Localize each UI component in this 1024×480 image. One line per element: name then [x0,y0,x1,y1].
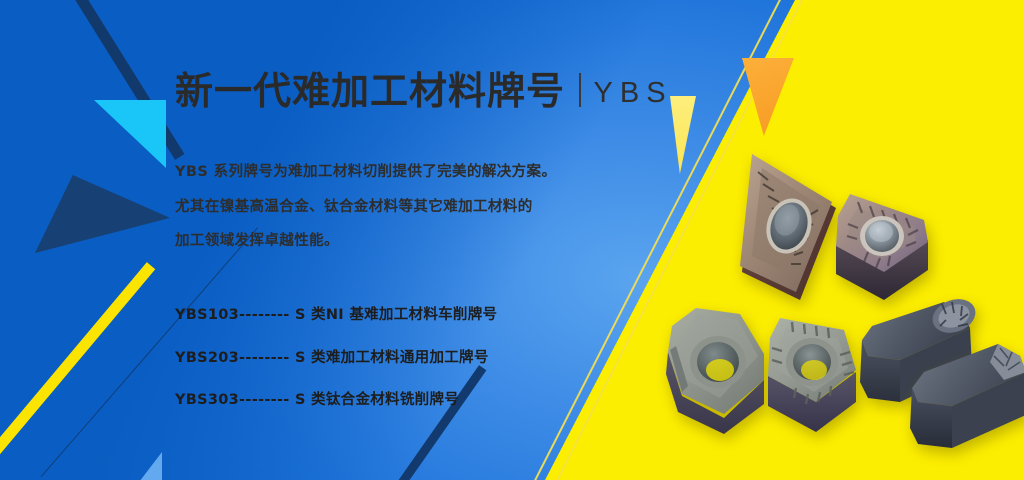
headline-brand-ybs: YBS [594,79,673,110]
list-item: YBS203-------- S 类难加工材料通用加工牌号 [175,351,497,366]
ybs-product-banner: 新一代难加工材料牌号 YBS YBS 系列牌号为难加工材料切削提供了完美的解决方… [0,0,1024,480]
square-turning-insert-icon [828,182,938,312]
banner-text-content: 新一代难加工材料牌号 YBS YBS 系列牌号为难加工材料切削提供了完美的解决方… [175,0,645,480]
description-line-3: 加工领域发挥卓越性能。 [175,234,556,249]
headline-main-text: 新一代难加工材料牌号 [175,72,565,110]
description-line-1: YBS 系列牌号为难加工材料切削提供了完美的解决方案。 [175,165,556,180]
headline-divider [579,73,581,107]
square-milling-insert-icon [760,310,865,440]
description-line-2: 尤其在镍基高温合金、钛合金材料等其它难加工材料的 [175,200,556,215]
banner-headline: 新一代难加工材料牌号 YBS [175,72,673,110]
list-item: YBS303-------- S 类钛合金材料铣削牌号 [175,393,497,408]
list-item: YBS103-------- S 类NI 基难加工材料车削牌号 [175,308,497,323]
grooving-insert-right-icon [908,336,1024,461]
banner-description: YBS 系列牌号为难加工材料切削提供了完美的解决方案。 尤其在镍基高温合金、钛合… [175,165,556,269]
product-grade-list: YBS103-------- S 类NI 基难加工材料车削牌号 YBS203--… [175,308,497,436]
product-image-group [620,140,1024,450]
